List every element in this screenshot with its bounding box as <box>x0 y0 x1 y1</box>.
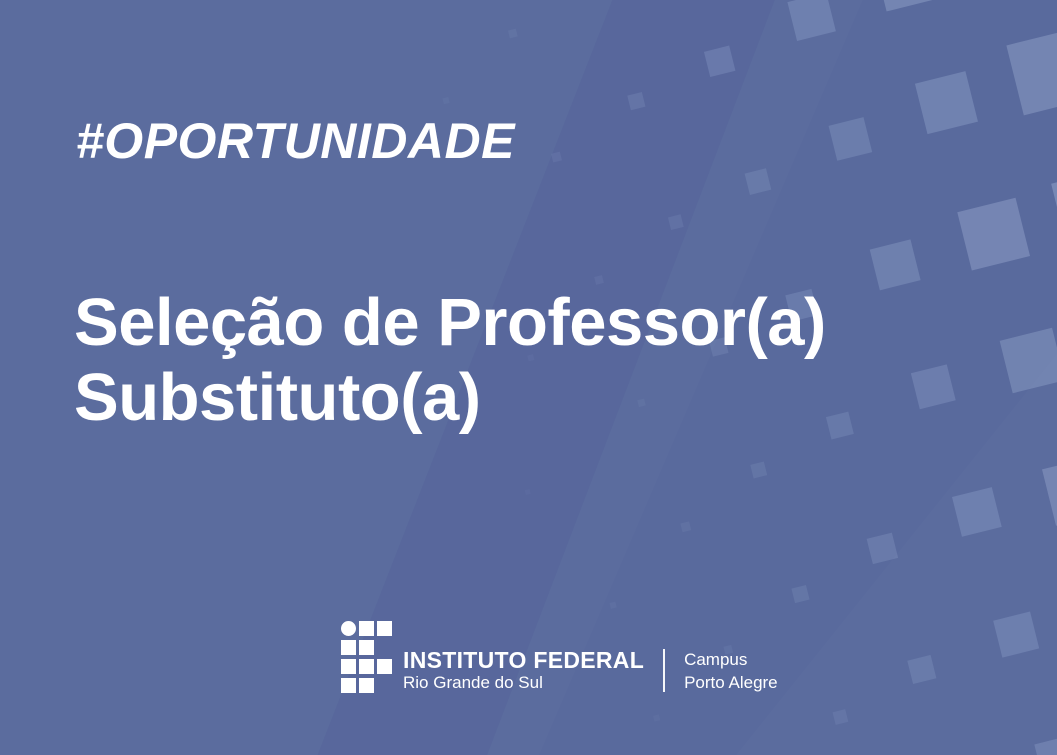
campus-name: Porto Alegre <box>684 672 778 694</box>
logo-cell-r1c3 <box>377 621 392 636</box>
logo-cell-r1c2 <box>359 621 374 636</box>
logo-cell-r3c1 <box>341 659 356 674</box>
brand-name-sub: Rio Grande do Sul <box>403 673 644 693</box>
logo-cell-r2c2 <box>359 640 374 655</box>
page-title-line-2: Substituto(a) <box>74 360 934 435</box>
logo-cell-r3c2 <box>359 659 374 674</box>
poster-canvas: #OPORTUNIDADE Seleção de Professor(a) Su… <box>0 0 1057 755</box>
page-title: Seleção de Professor(a) Substituto(a) <box>74 285 934 435</box>
logo-cell-r3c3 <box>377 659 392 674</box>
ifrs-wordmark: INSTITUTO FEDERAL Rio Grande do Sul <box>403 648 644 695</box>
poster-content: #OPORTUNIDADE Seleção de Professor(a) Su… <box>0 0 1057 755</box>
hashtag-label: #OPORTUNIDADE <box>76 116 515 166</box>
logo-cell-r1c1-circle <box>341 621 356 636</box>
campus-block: Campus Porto Alegre <box>684 649 778 694</box>
brand-name-main: INSTITUTO FEDERAL <box>403 648 644 672</box>
campus-label: Campus <box>684 649 778 671</box>
ifrs-grid-mark-icon <box>341 621 392 693</box>
logo-cell-r2c1 <box>341 640 356 655</box>
ifrs-logo-lockup: INSTITUTO FEDERAL Rio Grande do Sul Camp… <box>341 619 778 695</box>
logo-divider <box>663 649 665 692</box>
page-title-line-1: Seleção de Professor(a) <box>74 285 934 360</box>
logo-cell-r4c1 <box>341 678 356 693</box>
logo-cell-r4c2 <box>359 678 374 693</box>
